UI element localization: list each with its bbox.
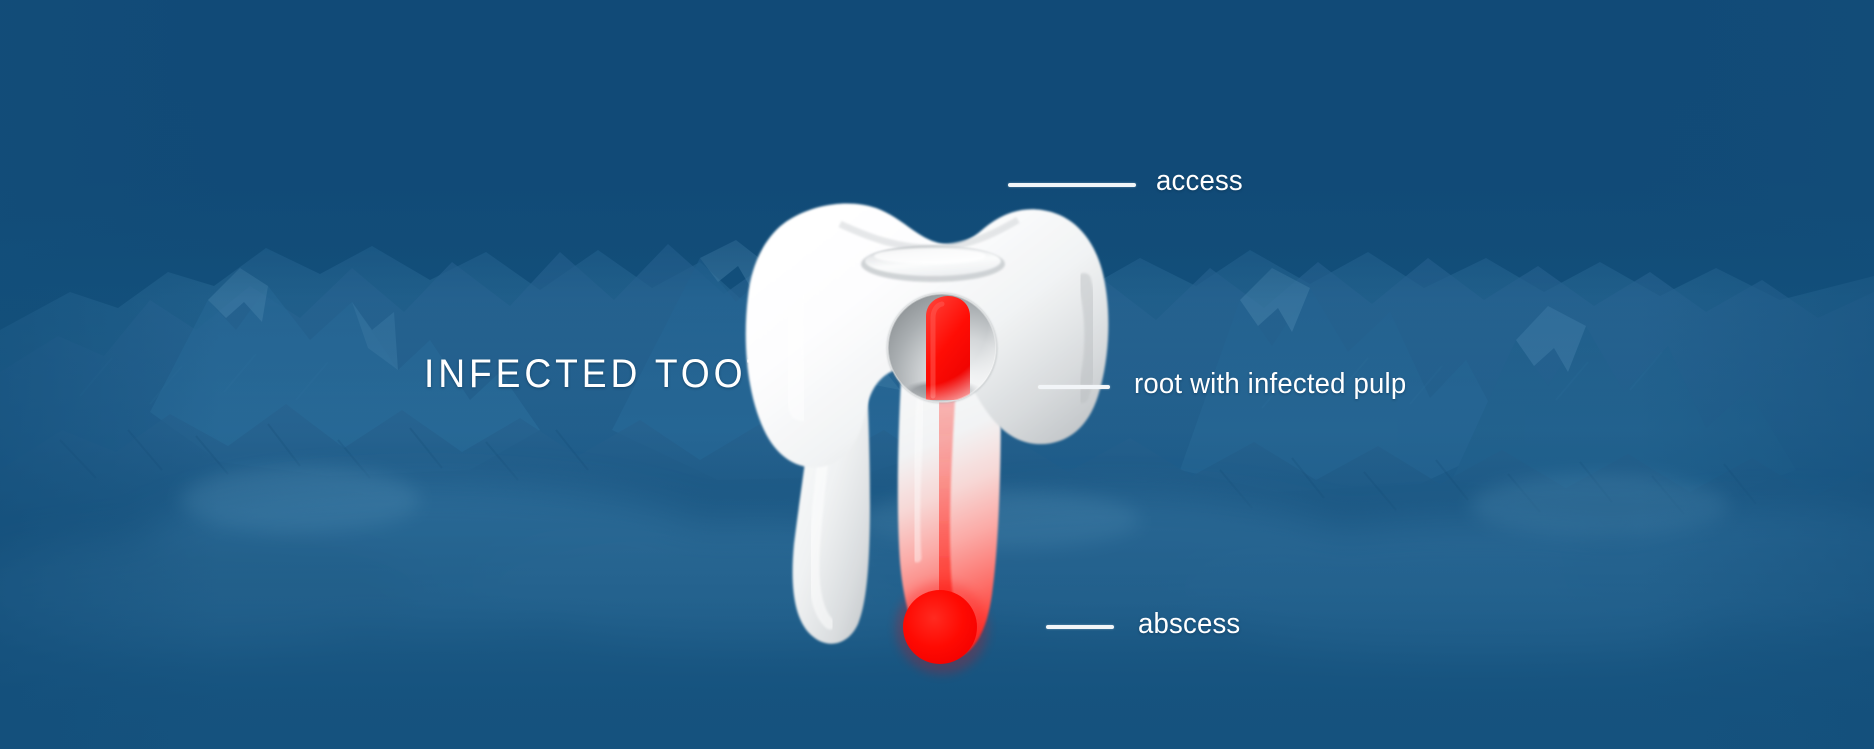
leader-line-root bbox=[1038, 385, 1110, 389]
abscess-circle bbox=[903, 590, 977, 664]
callout-label-access: access bbox=[1156, 165, 1243, 197]
tooth-illustration bbox=[690, 100, 1210, 720]
infographic-canvas: INFECTED TOOTH bbox=[0, 0, 1874, 749]
abscess-lesion bbox=[896, 582, 988, 674]
access-opening bbox=[861, 246, 1005, 282]
leader-line-access bbox=[1008, 183, 1136, 187]
callout-label-root-infected-pulp: root with infected pulp bbox=[1134, 368, 1406, 400]
leader-line-abscess bbox=[1046, 625, 1114, 629]
callout-label-abscess: abscess bbox=[1138, 608, 1240, 640]
